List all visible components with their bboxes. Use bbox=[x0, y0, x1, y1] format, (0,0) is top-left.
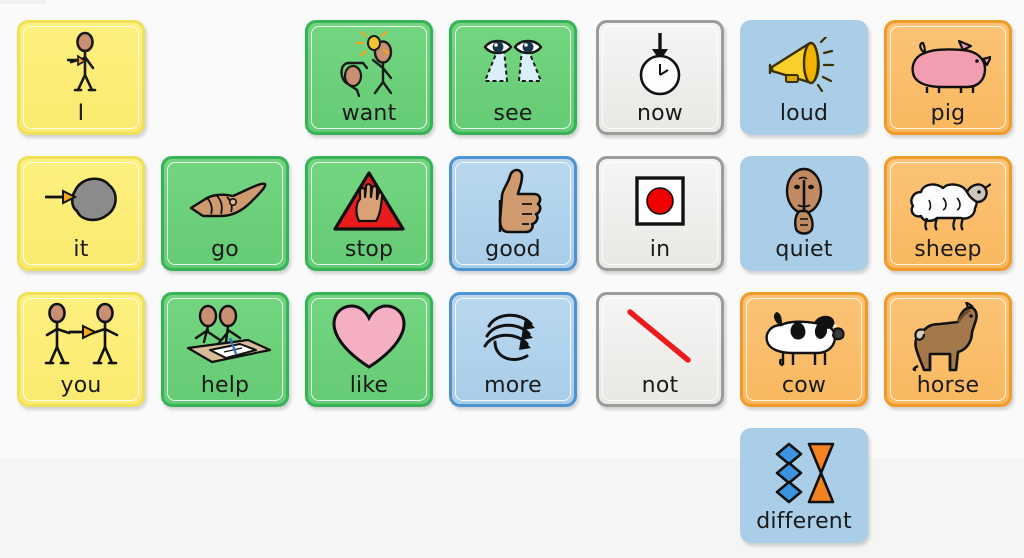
board-cell-help[interactable]: help bbox=[161, 292, 289, 407]
megaphone-icon bbox=[747, 29, 861, 101]
board-cell-see[interactable]: see bbox=[449, 20, 577, 135]
cell-label: different bbox=[756, 509, 852, 535]
cell-label: good bbox=[485, 237, 541, 263]
cell-label: pig bbox=[931, 101, 966, 127]
eyes-looking-icon bbox=[456, 29, 570, 101]
board-cell-pig[interactable]: pig bbox=[884, 20, 1012, 135]
cell-label: I bbox=[78, 101, 85, 127]
board-cell-it[interactable]: it bbox=[17, 156, 145, 271]
two-people-arrow-icon bbox=[24, 301, 138, 373]
board-cell-horse[interactable]: horse bbox=[884, 292, 1012, 407]
pointing-hand-icon bbox=[168, 165, 282, 237]
clock-arrow-icon bbox=[603, 29, 717, 101]
board-cell-more[interactable]: more bbox=[449, 292, 577, 407]
cow-icon bbox=[747, 301, 861, 373]
cell-label: sheep bbox=[914, 237, 981, 263]
two-people-desk-icon bbox=[168, 301, 282, 373]
cell-label: now bbox=[637, 101, 683, 127]
board-cell-not[interactable]: not bbox=[596, 292, 724, 407]
board-cell-go[interactable]: go bbox=[161, 156, 289, 271]
cell-label: cow bbox=[782, 373, 826, 399]
cell-label: it bbox=[73, 237, 88, 263]
cell-label: not bbox=[642, 373, 679, 399]
diamonds-triangles-icon bbox=[747, 437, 861, 509]
thumbs-up-icon bbox=[456, 165, 570, 237]
heart-icon bbox=[312, 301, 426, 373]
arrow-to-blob-icon bbox=[24, 165, 138, 237]
board-cell-different[interactable]: different bbox=[740, 428, 868, 543]
board-cell-sheep[interactable]: sheep bbox=[884, 156, 1012, 271]
board-cell-you[interactable]: you bbox=[17, 292, 145, 407]
communication-board-grid: I want bbox=[0, 0, 1024, 558]
cell-label: horse bbox=[917, 373, 979, 399]
cell-label: like bbox=[350, 373, 389, 399]
board-cell-i[interactable]: I bbox=[17, 20, 145, 135]
stop-hand-triangle-icon bbox=[312, 165, 426, 237]
person-pointing-self-icon bbox=[24, 29, 138, 101]
board-cell-stop[interactable]: stop bbox=[305, 156, 433, 271]
cell-label: you bbox=[60, 373, 101, 399]
horse-icon bbox=[891, 301, 1005, 373]
board-cell-loud[interactable]: loud bbox=[740, 20, 868, 135]
finger-to-lips-icon bbox=[747, 165, 861, 237]
cell-label: quiet bbox=[775, 237, 832, 263]
board-cell-quiet[interactable]: quiet bbox=[740, 156, 868, 271]
cell-label: want bbox=[342, 101, 397, 127]
cell-label: help bbox=[201, 373, 249, 399]
board-cell-in[interactable]: in bbox=[596, 156, 724, 271]
person-reaching-icon bbox=[312, 29, 426, 101]
cell-label: in bbox=[650, 237, 670, 263]
board-cell-now[interactable]: now bbox=[596, 20, 724, 135]
board-cell-want[interactable]: want bbox=[305, 20, 433, 135]
cell-label: go bbox=[211, 237, 239, 263]
circular-arrows-icon bbox=[456, 301, 570, 373]
red-slash-icon bbox=[603, 301, 717, 373]
cell-label: loud bbox=[780, 101, 828, 127]
board-cell-like[interactable]: like bbox=[305, 292, 433, 407]
sheep-icon bbox=[891, 165, 1005, 237]
dot-in-box-icon bbox=[603, 165, 717, 237]
cell-label: see bbox=[493, 101, 532, 127]
pig-icon bbox=[891, 29, 1005, 101]
cell-label: stop bbox=[345, 237, 393, 263]
board-cell-cow[interactable]: cow bbox=[740, 292, 868, 407]
cell-label: more bbox=[484, 373, 542, 399]
board-cell-good[interactable]: good bbox=[449, 156, 577, 271]
